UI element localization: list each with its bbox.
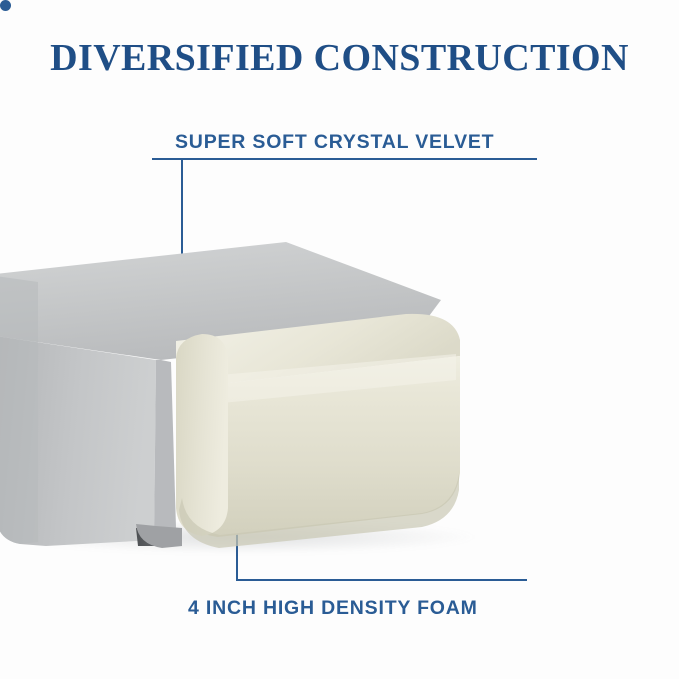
page-title: DIVERSIFIED CONSTRUCTION [0, 36, 679, 80]
velvet-cover-front-wrap [154, 360, 176, 540]
product-infographic: DIVERSIFIED CONSTRUCTION SUPER SOFT CRYS… [0, 0, 679, 679]
foam-core [176, 314, 460, 548]
leader-line-top-horizontal [152, 158, 537, 160]
callout-label-top: SUPER SOFT CRYSTAL VELVET [175, 131, 494, 154]
leader-line-bottom-horizontal [236, 579, 527, 581]
callout-label-bottom: 4 INCH HIGH DENSITY FOAM [188, 597, 478, 620]
leader-endpoint-dot-top [0, 0, 11, 11]
mattress-illustration [0, 228, 506, 558]
